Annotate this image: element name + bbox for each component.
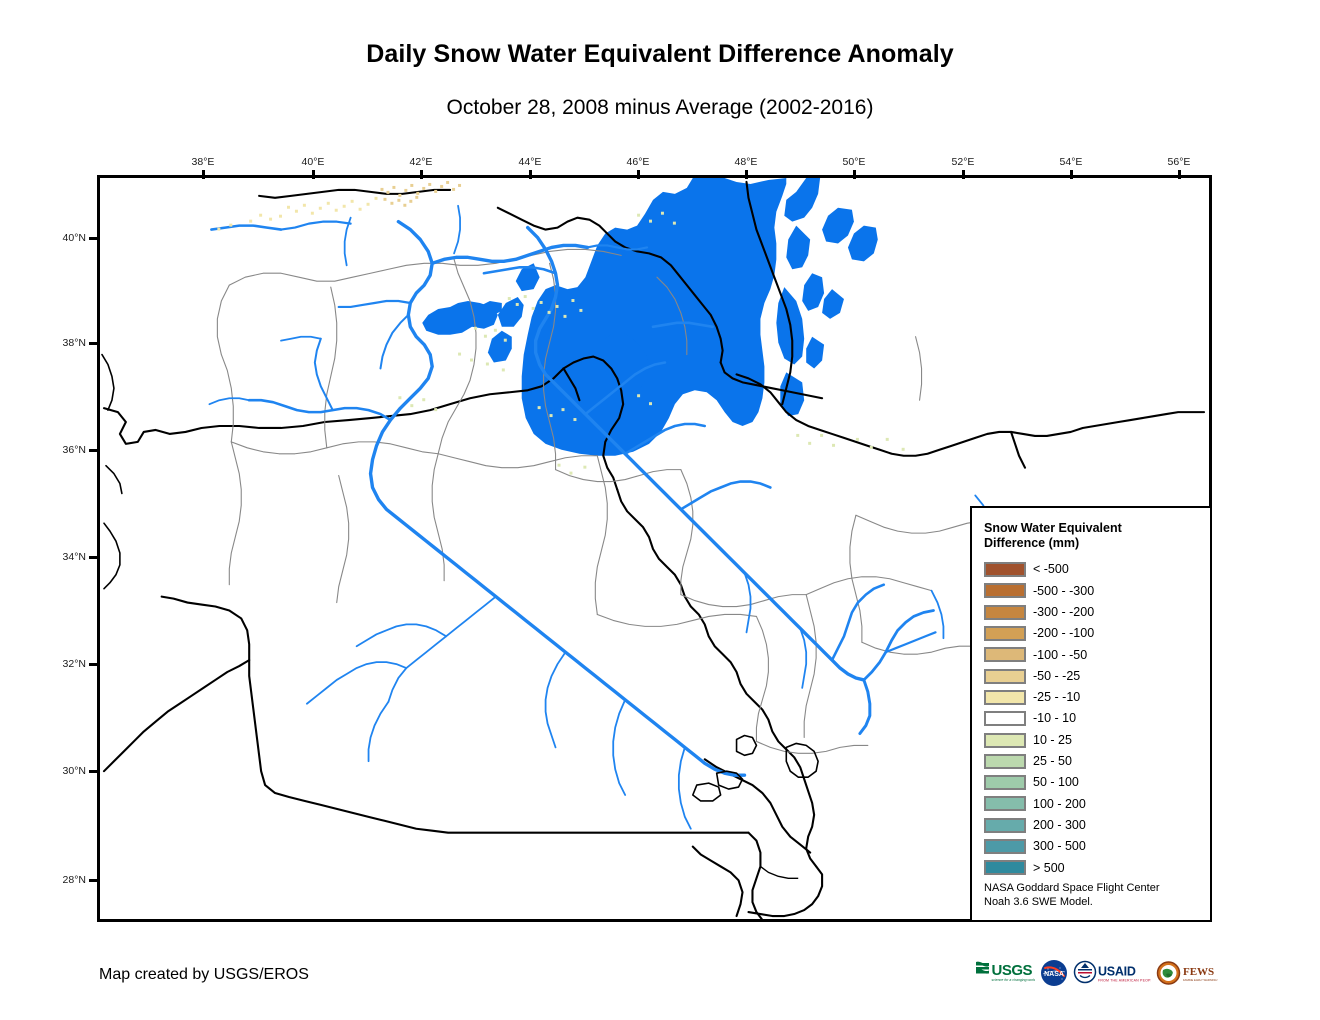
legend-item: 50 - 100: [984, 772, 1204, 793]
legend-item: 10 - 25: [984, 729, 1204, 750]
legend-swatch: [984, 754, 1026, 769]
map-legend: Snow Water Equivalent Difference (mm) < …: [970, 506, 1212, 922]
legend-label: 100 - 200: [1033, 798, 1086, 811]
lat-tick-label-34n: 34°N: [40, 551, 86, 563]
lat-tick-34n: [89, 556, 98, 559]
lat-tick-label-40n: 40°N: [40, 232, 86, 244]
legend-label: 200 - 300: [1033, 819, 1086, 832]
legend-item: < -500: [984, 559, 1204, 580]
legend-swatch: [984, 690, 1026, 705]
nasa-logo: NASA: [1040, 959, 1068, 987]
svg-text:FAMINE EARLY WARNING SYSTEMS N: FAMINE EARLY WARNING SYSTEMS NETWORK: [1183, 978, 1218, 982]
legend-swatch: [984, 647, 1026, 662]
usgs-logo: USGS science for a changing world: [975, 959, 1035, 987]
page-title: Daily Snow Water Equivalent Difference A…: [0, 40, 1320, 69]
lat-tick-28n: [89, 879, 98, 882]
legend-item: 100 - 200: [984, 793, 1204, 814]
legend-swatch: [984, 626, 1026, 641]
lon-tick-50e: [853, 170, 856, 179]
lon-tick-label-46e: 46°E: [627, 156, 650, 168]
legend-label: 50 - 100: [1033, 776, 1079, 789]
lat-tick-label-28n: 28°N: [40, 874, 86, 886]
lon-tick-48e: [745, 170, 748, 179]
legend-item: -200 - -100: [984, 623, 1204, 644]
lon-tick-label-52e: 52°E: [952, 156, 975, 168]
legend-item: -25 - -10: [984, 687, 1204, 708]
legend-item: 25 - 50: [984, 751, 1204, 772]
legend-item: > 500: [984, 857, 1204, 878]
lat-tick-label-32n: 32°N: [40, 658, 86, 670]
lat-tick-32n: [89, 663, 98, 666]
svg-text:science for a changing world: science for a changing world: [992, 978, 1036, 982]
usaid-logo: USAID FROM THE AMERICAN PEOPLE: [1073, 959, 1151, 987]
legend-swatch: [984, 583, 1026, 598]
legend-item-list: < -500-500 - -300-300 - -200-200 - -100-…: [984, 559, 1204, 878]
legend-label: 25 - 50: [1033, 755, 1072, 768]
lon-tick-42e: [420, 170, 423, 179]
legend-swatch: [984, 733, 1026, 748]
legend-item: -50 - -25: [984, 665, 1204, 686]
svg-text:USAID: USAID: [1098, 965, 1136, 979]
legend-label: 10 - 25: [1033, 734, 1072, 747]
legend-swatch: [984, 562, 1026, 577]
legend-item: -100 - -50: [984, 644, 1204, 665]
lon-tick-54e: [1070, 170, 1073, 179]
lat-tick-label-36n: 36°N: [40, 444, 86, 456]
lon-tick-38e: [202, 170, 205, 179]
lat-tick-label-38n: 38°N: [40, 337, 86, 349]
lon-tick-label-42e: 42°E: [410, 156, 433, 168]
legend-label: 300 - 500: [1033, 840, 1086, 853]
lon-tick-52e: [962, 170, 965, 179]
lon-tick-label-48e: 48°E: [735, 156, 758, 168]
lat-tick-38n: [89, 342, 98, 345]
lon-tick-46e: [637, 170, 640, 179]
lake-van-east-arm: [482, 301, 502, 315]
lon-tick-40e: [312, 170, 315, 179]
legend-label: -50 - -25: [1033, 670, 1080, 683]
legend-credit-line2: Noah 3.6 SWE Model.: [984, 896, 1209, 910]
lat-tick-40n: [89, 237, 98, 240]
legend-swatch: [984, 711, 1026, 726]
legend-credit-line1: NASA Goddard Space Flight Center: [984, 882, 1209, 896]
fewsnet-logo: FEWS FAMINE EARLY WARNING SYSTEMS NETWOR…: [1156, 959, 1218, 987]
legend-title-line1: Snow Water Equivalent: [984, 521, 1122, 535]
legend-swatch: [984, 605, 1026, 620]
svg-text:NASA: NASA: [1044, 971, 1064, 978]
legend-item: -10 - 10: [984, 708, 1204, 729]
legend-title: Snow Water Equivalent Difference (mm): [984, 521, 1199, 551]
legend-label: -500 - -300: [1033, 585, 1094, 598]
svg-text:FROM THE AMERICAN PEOPLE: FROM THE AMERICAN PEOPLE: [1098, 979, 1151, 983]
legend-swatch: [984, 839, 1026, 854]
lon-tick-label-38e: 38°E: [192, 156, 215, 168]
legend-item: 300 - 500: [984, 836, 1204, 857]
legend-label: -100 - -50: [1033, 649, 1087, 662]
gulf-shoreline-detail: [760, 866, 814, 919]
legend-label: < -500: [1033, 563, 1069, 576]
svg-text:USGS: USGS: [992, 962, 1033, 979]
legend-swatch: [984, 775, 1026, 790]
legend-label: -25 - -10: [1033, 691, 1080, 704]
lon-tick-label-40e: 40°E: [302, 156, 325, 168]
map-author-credit: Map created by USGS/EROS: [99, 966, 309, 984]
lat-tick-36n: [89, 449, 98, 452]
legend-label: -200 - -100: [1033, 627, 1094, 640]
legend-swatch: [984, 796, 1026, 811]
lon-tick-label-44e: 44°E: [519, 156, 542, 168]
legend-title-line2: Difference (mm): [984, 536, 1079, 550]
lat-tick-label-30n: 30°N: [40, 765, 86, 777]
legend-item: 200 - 300: [984, 815, 1204, 836]
legend-swatch: [984, 860, 1026, 875]
legend-swatch: [984, 669, 1026, 684]
lon-tick-56e: [1178, 170, 1181, 179]
agency-logo-row: USGS science for a changing world NASA U…: [975, 956, 1207, 990]
legend-swatch: [984, 818, 1026, 833]
legend-label: -300 - -200: [1033, 606, 1094, 619]
lon-tick-label-56e: 56°E: [1168, 156, 1191, 168]
lat-tick-30n: [89, 770, 98, 773]
legend-label: > 500: [1033, 862, 1065, 875]
legend-credit: NASA Goddard Space Flight Center Noah 3.…: [984, 882, 1209, 909]
lon-tick-label-54e: 54°E: [1060, 156, 1083, 168]
svg-text:FEWS: FEWS: [1183, 966, 1214, 978]
lon-tick-44e: [529, 170, 532, 179]
legend-item: -500 - -300: [984, 580, 1204, 601]
page-subtitle: October 28, 2008 minus Average (2002-201…: [0, 96, 1320, 120]
lon-tick-label-50e: 50°E: [843, 156, 866, 168]
legend-item: -300 - -200: [984, 602, 1204, 623]
legend-label: -10 - 10: [1033, 712, 1076, 725]
